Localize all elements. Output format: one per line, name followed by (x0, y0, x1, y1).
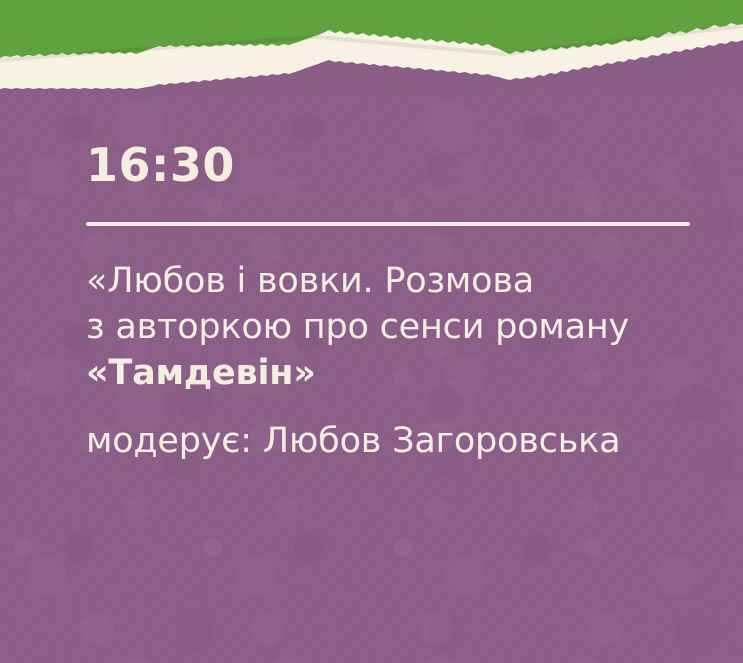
event-book-title: «Тамдевін» (86, 350, 686, 396)
torn-paper-header (0, 0, 743, 90)
event-schedule-card: 16:30 «Любов і вовки. Розмова з авторкою… (0, 0, 743, 663)
horizontal-rule (86, 222, 690, 226)
event-moderator: модерує: Любов Загоровська (86, 418, 686, 464)
event-title-line-1: «Любов і вовки. Розмова (86, 258, 686, 304)
event-time: 16:30 (86, 140, 686, 190)
event-title-line-2: з авторкою про сенси роману (86, 304, 686, 350)
event-title-block: «Любов і вовки. Розмова з авторкою про с… (86, 258, 686, 396)
card-content: 16:30 «Любов і вовки. Розмова з авторкою… (86, 140, 686, 464)
